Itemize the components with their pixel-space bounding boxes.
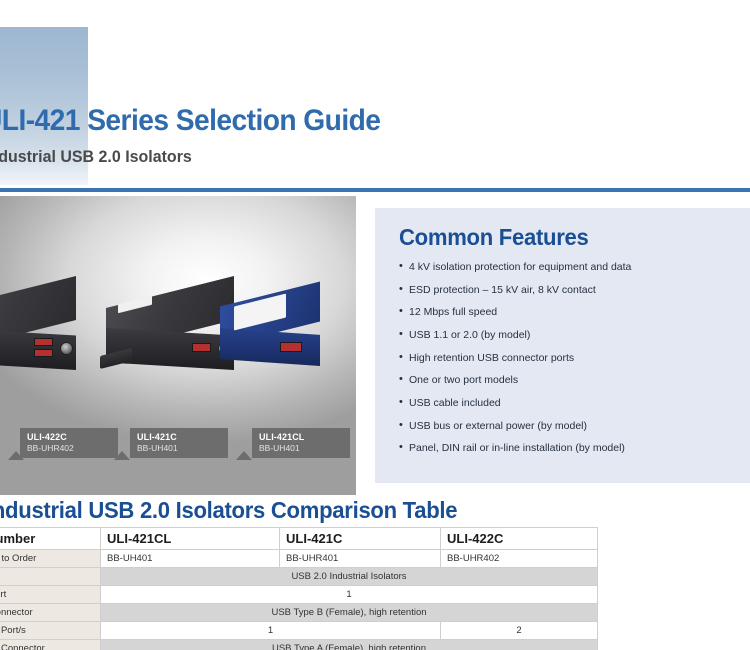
caption-pointer-icon	[236, 451, 252, 460]
row-span-cell: USB Type A (Female), high retention	[101, 640, 598, 650]
feature-item: USB 1.1 or 2.0 (by model)	[399, 328, 730, 342]
feature-item: High retention USB connector ports	[399, 351, 730, 365]
product-caption: ULI-421C BB-UH401	[130, 428, 228, 458]
row-span-cell: USB 2.0 Industrial Isolators	[101, 568, 598, 586]
row-span-cell: 1	[101, 586, 598, 604]
table-row-header: Model Number ULI-421CL ULI-421C ULI-422C	[0, 528, 598, 550]
page-subtitle: Industrial USB 2.0 Isolators	[0, 147, 192, 167]
row-cell: BB-UHR402	[441, 550, 598, 568]
table-row: Upstream Port 1	[0, 586, 598, 604]
product-image-uli-421cl	[212, 282, 342, 372]
row-label: Description	[0, 568, 101, 586]
product-model-label: ULI-421C	[137, 432, 221, 443]
table-header-model: ULI-421C	[280, 528, 441, 550]
feature-item: One or two port models	[399, 373, 730, 387]
row-label: Downstream Connector	[0, 640, 101, 650]
table-header-label: Model Number	[0, 528, 101, 550]
header-divider	[0, 188, 750, 192]
common-features-panel: Common Features 4 kV isolation protectio…	[375, 208, 750, 483]
product-caption: ULI-421CL BB-UH401	[252, 428, 350, 458]
common-features-heading: Common Features	[399, 224, 717, 251]
comparison-table: Model Number ULI-421CL ULI-421C ULI-422C…	[0, 527, 598, 650]
caption-pointer-icon	[8, 451, 24, 460]
table-row: Description USB 2.0 Industrial Isolators	[0, 568, 598, 586]
table-row: Downstream Connector USB Type A (Female)…	[0, 640, 598, 650]
row-cell: BB-UH401	[101, 550, 280, 568]
feature-item: USB cable included	[399, 396, 730, 410]
table-row: Part Number to Order BB-UH401 BB-UHR401 …	[0, 550, 598, 568]
row-label: Downstream Port/s	[0, 622, 101, 640]
product-image-uli-422c	[0, 278, 108, 373]
product-part-label: BB-UHR402	[27, 443, 111, 453]
row-label: Upstream Port	[0, 586, 101, 604]
table-row: Upstream Connector USB Type B (Female), …	[0, 604, 598, 622]
product-model-label: ULI-422C	[27, 432, 111, 443]
feature-item: 4 kV isolation protection for equipment …	[399, 260, 730, 274]
comparison-table-title: Industrial USB 2.0 Isolators Comparison …	[0, 497, 457, 524]
row-span-cell: USB Type B (Female), high retention	[101, 604, 598, 622]
product-caption: ULI-422C BB-UHR402	[20, 428, 118, 458]
table-row: Downstream Port/s 1 2	[0, 622, 598, 640]
caption-pointer-icon	[114, 451, 130, 460]
row-split-cell: 1	[101, 622, 441, 640]
feature-item: Panel, DIN rail or in-line installation …	[399, 441, 730, 455]
common-features-list: 4 kV isolation protection for equipment …	[399, 260, 730, 456]
row-cell: BB-UHR401	[280, 550, 441, 568]
product-model-label: ULI-421CL	[259, 432, 343, 443]
datasheet-page: ULI-421 Series Selection Guide Industria…	[0, 0, 750, 650]
feature-item: USB bus or external power (by model)	[399, 419, 730, 433]
page-title: ULI-421 Series Selection Guide	[0, 104, 380, 138]
row-label: Part Number to Order	[0, 550, 101, 568]
row-label: Upstream Connector	[0, 604, 101, 622]
product-photo-panel: ULI-422C BB-UHR402 ULI-421C BB-UH401 ULI…	[0, 196, 356, 495]
table-header-model: ULI-421CL	[101, 528, 280, 550]
product-part-label: BB-UH401	[137, 443, 221, 453]
table-header-model: ULI-422C	[441, 528, 598, 550]
feature-item: 12 Mbps full speed	[399, 305, 730, 319]
feature-item: ESD protection – 15 kV air, 8 kV contact	[399, 283, 730, 297]
row-split-cell: 2	[441, 622, 598, 640]
product-part-label: BB-UH401	[259, 443, 343, 453]
